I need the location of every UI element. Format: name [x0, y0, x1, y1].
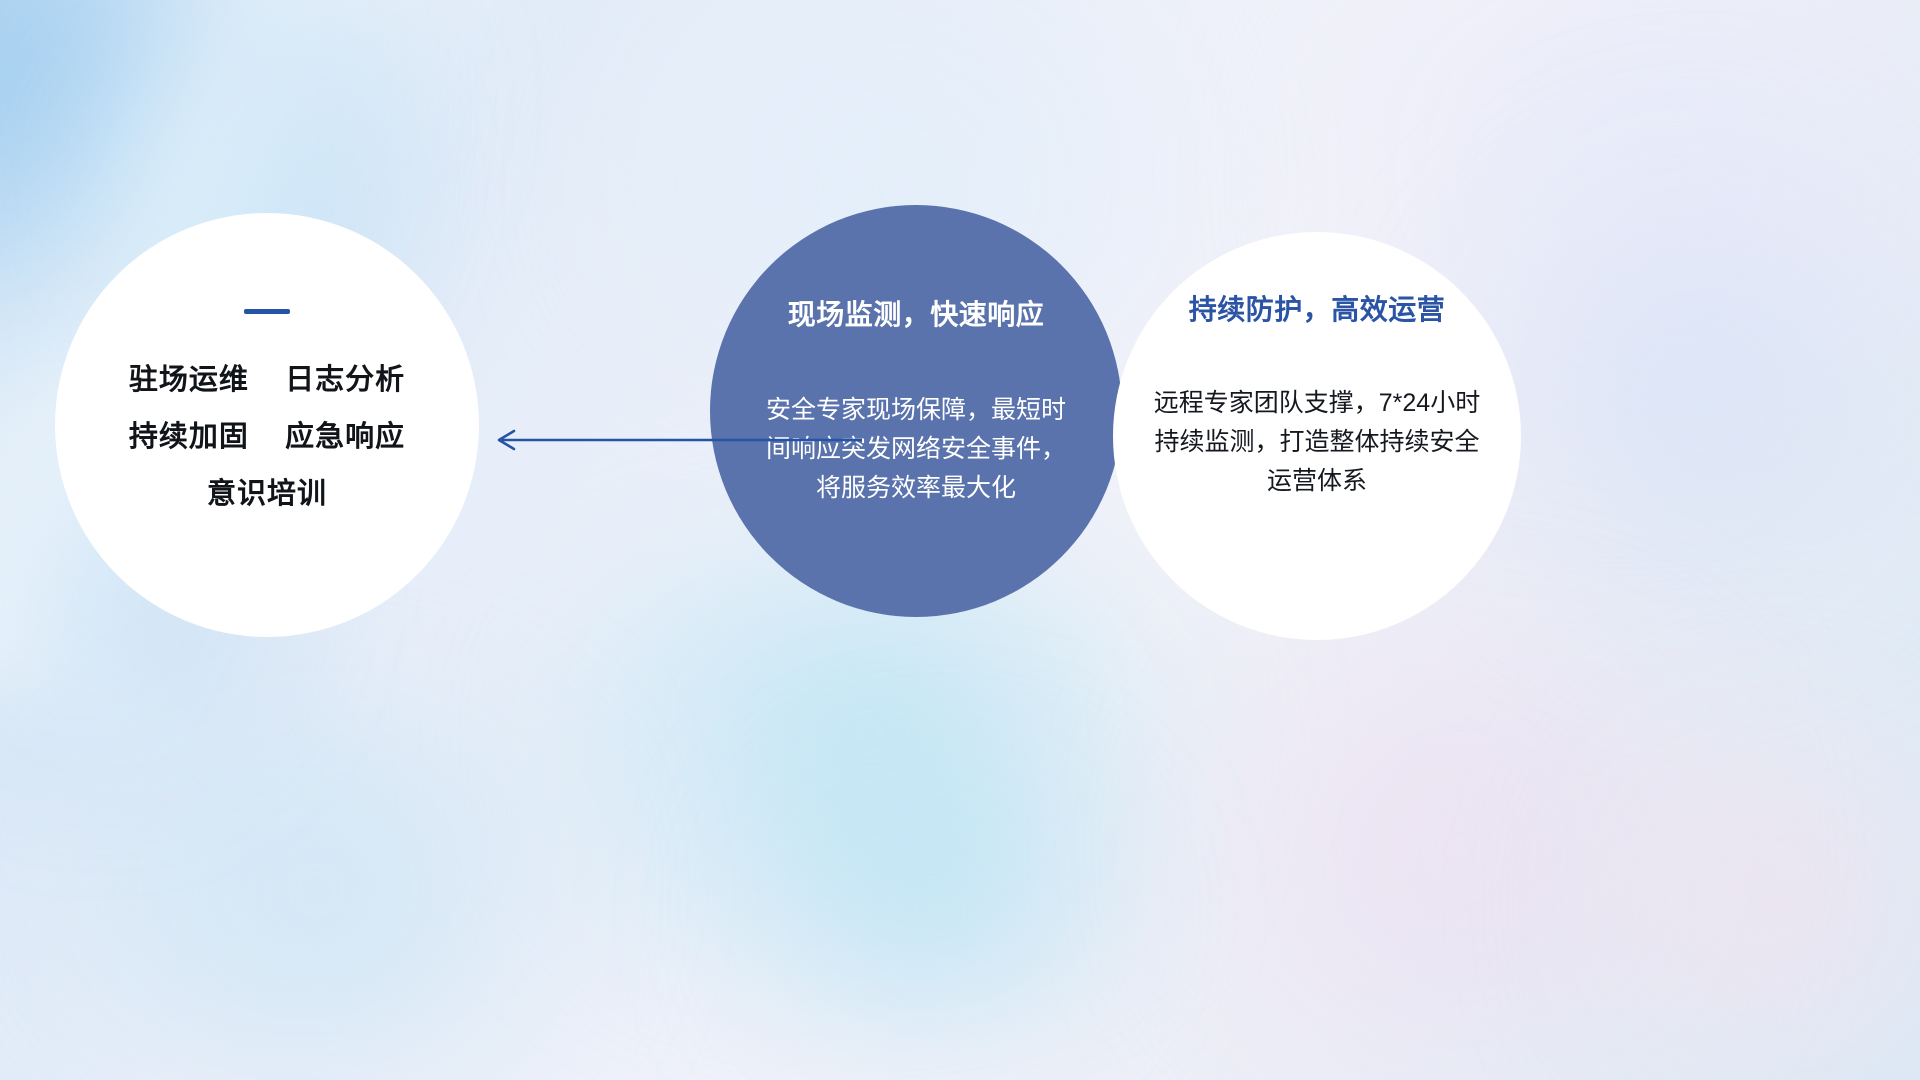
right-circle-card[interactable]: 持续防护，高效运营 远程专家团队支撑，7*24小时持续监测，打造整体持续安全运营… [1113, 232, 1521, 640]
middle-circle-card[interactable]: 现场监测，快速响应 安全专家现场保障，最短时间响应突发网络安全事件，将服务效率最… [710, 205, 1122, 617]
background-glow-lower-center [680, 760, 1200, 1060]
left-service-line-1: 驻场运维 日志分析 [129, 366, 405, 395]
right-card-body: 远程专家团队支撑，7*24小时持续监测，打造整体持续安全运营体系 [1147, 384, 1487, 501]
left-arrow-icon [480, 420, 880, 460]
divider-line [244, 309, 290, 314]
left-circle-card[interactable]: 驻场运维 日志分析 持续加固 应急响应 意识培训 [55, 213, 479, 637]
left-service-line-3: 意识培训 [207, 480, 327, 509]
left-service-line-2: 持续加固 应急响应 [129, 423, 405, 452]
middle-card-title: 现场监测，快速响应 [788, 293, 1045, 333]
right-card-title: 持续防护，高效运营 [1189, 288, 1446, 328]
